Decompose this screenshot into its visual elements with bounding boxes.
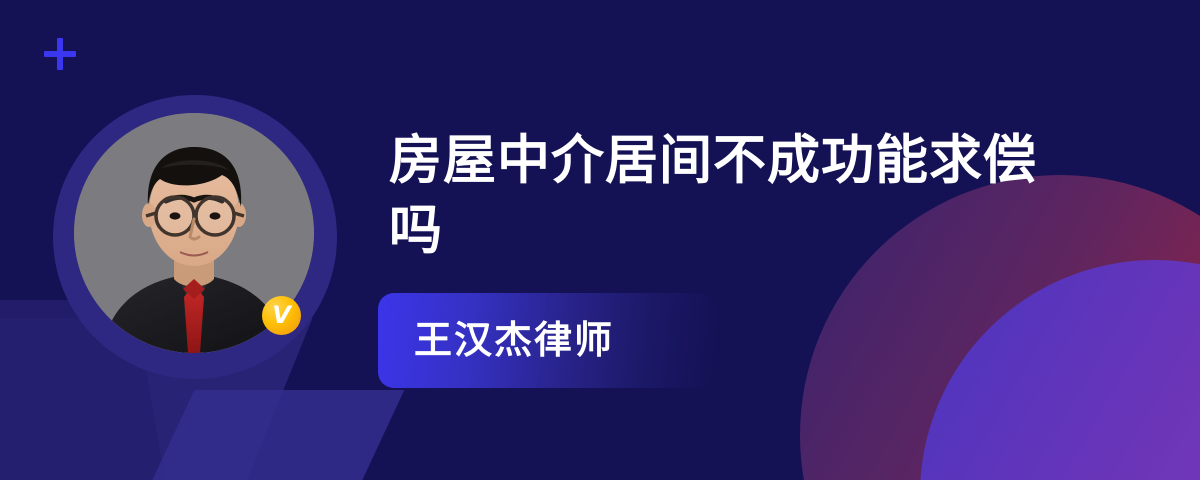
- decorative-blob-violet: [920, 260, 1200, 480]
- plus-icon: [44, 38, 76, 70]
- lawyer-name-button[interactable]: 王汉杰律师: [378, 293, 716, 388]
- avatar[interactable]: V: [53, 95, 337, 379]
- page-title: 房屋中介居间不成功能求偿吗: [389, 126, 1079, 266]
- decorative-slab-bottom: [106, 390, 405, 480]
- content-area: 房屋中介居间不成功能求偿吗: [389, 126, 1089, 266]
- verified-badge-glyph: V: [272, 303, 291, 327]
- lawyer-question-banner: V 房屋中介居间不成功能求偿吗 王汉杰律师: [0, 0, 1200, 480]
- verified-badge-icon: V: [262, 296, 301, 335]
